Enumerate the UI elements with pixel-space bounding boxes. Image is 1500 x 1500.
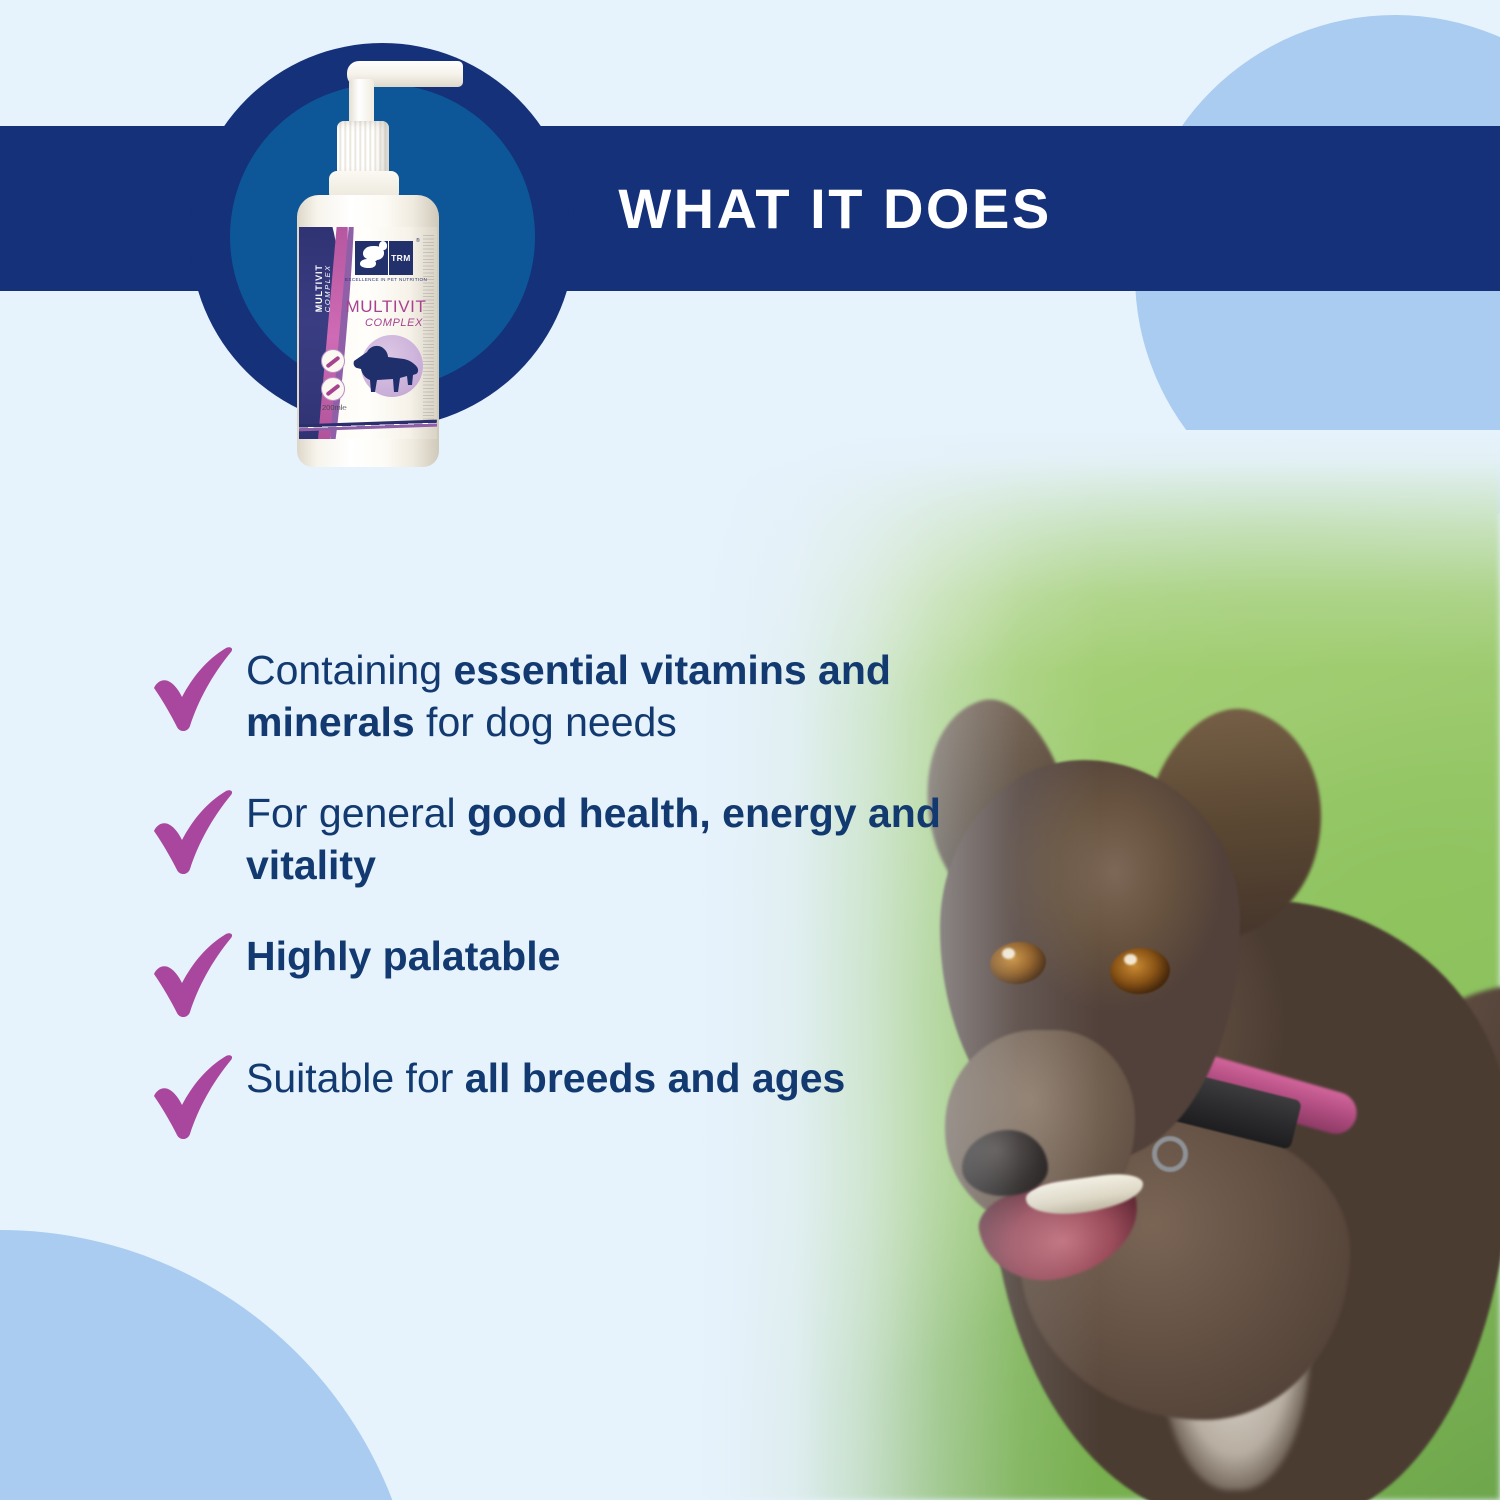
benefit-item: Suitable for all breeds and ages xyxy=(150,1048,1070,1140)
benefit-text: Suitable for all breeds and ages xyxy=(246,1048,845,1104)
benefit-item: Containing essential vitamins and minera… xyxy=(150,640,1070,749)
benefit-lead: Containing xyxy=(246,647,453,693)
free-from-badge-2 xyxy=(321,377,345,401)
checkmark-icon xyxy=(150,932,246,1018)
page-title: WHAT IT DOES xyxy=(0,126,1500,291)
benefit-bold: Highly palatable xyxy=(246,933,560,979)
benefits-list: Containing essential vitamins and minera… xyxy=(150,640,1070,1174)
checkmark-icon xyxy=(150,646,246,732)
checkmark-icon xyxy=(150,789,246,875)
benefit-text: For general good health, energy and vita… xyxy=(246,783,1070,892)
label-dog-silhouette-icon xyxy=(347,343,421,395)
label-badges xyxy=(321,349,345,405)
checkmark-icon xyxy=(150,1054,246,1140)
benefit-item: Highly palatable xyxy=(150,926,1070,1018)
product-name: MULTIVIT xyxy=(343,297,429,317)
benefit-item: For general good health, energy and vita… xyxy=(150,783,1070,892)
benefit-text: Containing essential vitamins and minera… xyxy=(246,640,1070,749)
promo-poster: MULTIVIT COMPLEX TRM ® EXCELLENCE IN PET… xyxy=(0,0,1500,1500)
benefit-lead: For general xyxy=(246,790,467,836)
benefit-tail: for dog needs xyxy=(415,699,677,745)
benefit-lead: Suitable for xyxy=(246,1055,465,1101)
benefit-bold: all breeds and ages xyxy=(465,1055,846,1101)
product-volume: 200ml℮ xyxy=(322,403,347,412)
free-from-badge-1 xyxy=(321,349,345,373)
benefit-text: Highly palatable xyxy=(246,926,560,982)
decorative-circle-bottom-left xyxy=(0,1230,420,1500)
